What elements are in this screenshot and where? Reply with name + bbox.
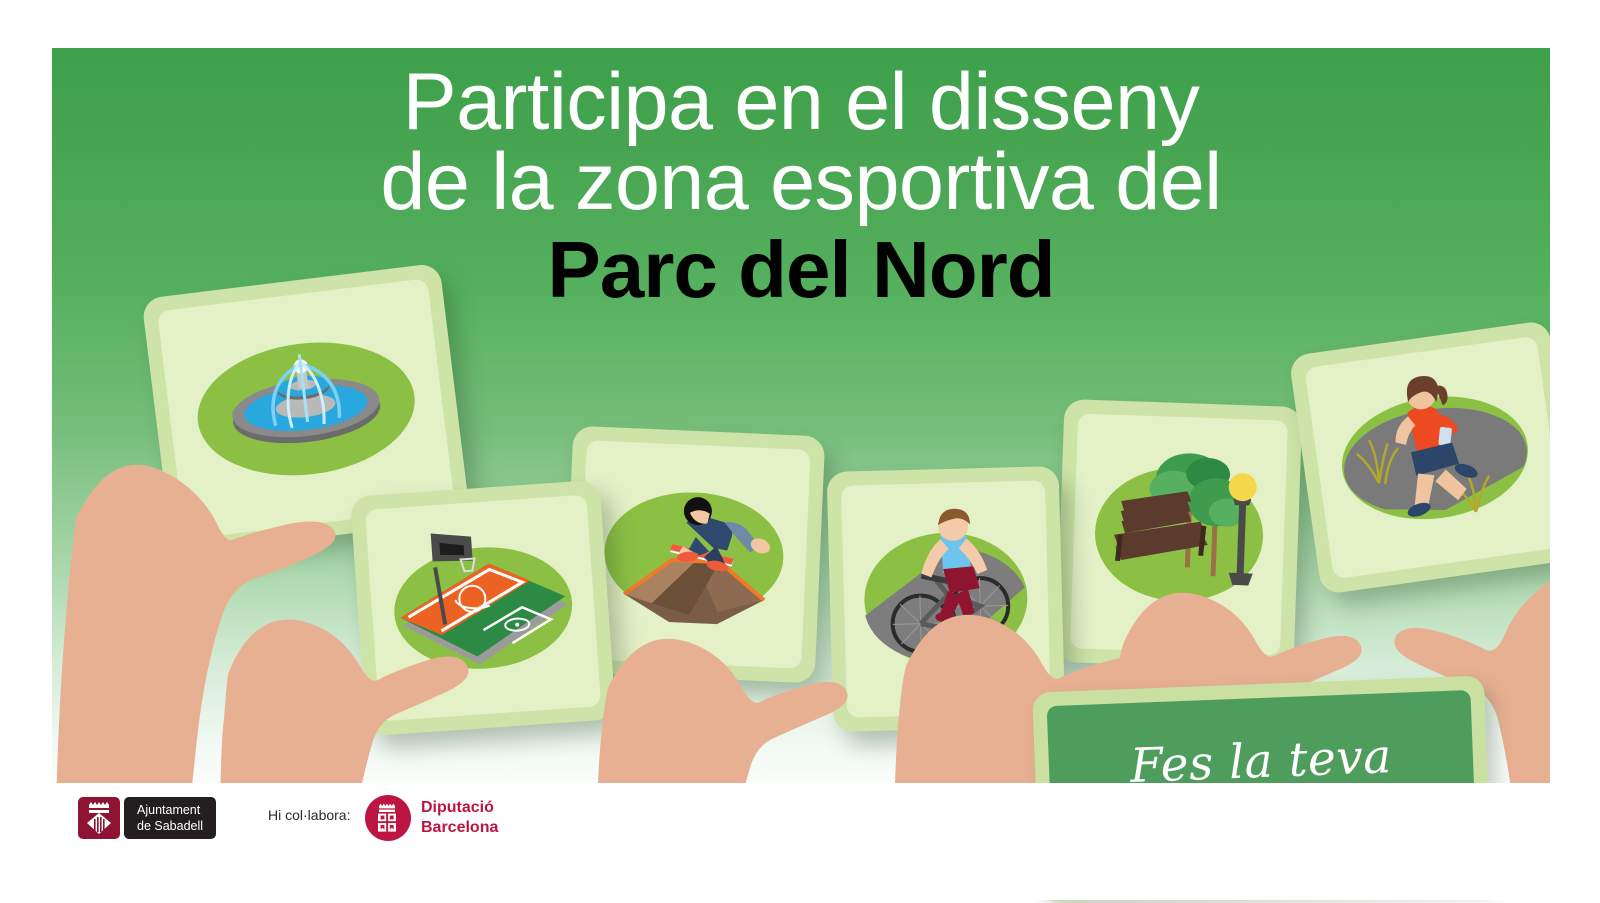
- diba-line-2: Barcelona: [421, 818, 498, 838]
- diputacio-name-box: Diputació Barcelona: [421, 798, 498, 838]
- card-runner-inner: [1304, 336, 1550, 579]
- skateboarder-icon: [577, 440, 810, 669]
- card-skate-inner: [577, 440, 810, 669]
- logo-diputacio-barcelona[interactable]: Diputació Barcelona: [365, 795, 498, 841]
- logo-ajuntament-de-sabadell[interactable]: Ajuntament de Sabadell: [78, 797, 216, 839]
- diputacio-crest-icon: [365, 795, 411, 841]
- diba-line-1: Diputació: [421, 798, 498, 818]
- card-bike-path[interactable]: [827, 466, 1066, 732]
- sabadell-line-1: Ajuntament: [137, 802, 203, 818]
- card-sports-courts[interactable]: [350, 480, 616, 737]
- card-park-bench[interactable]: [1055, 399, 1302, 670]
- poster-canvas: Participa en el disseny de la zona espor…: [0, 0, 1600, 900]
- bench-tree-lamp-icon: [1070, 413, 1288, 655]
- cyclist-icon: [841, 480, 1051, 717]
- card-park-inner: [1070, 413, 1288, 655]
- sabadell-line-2: de Sabadell: [137, 818, 203, 834]
- green-background-panel: [52, 48, 1550, 783]
- basketball-football-court-icon: [365, 495, 601, 722]
- footer-logos-bar: Ajuntament de Sabadell Hi col·labora:: [0, 783, 1600, 900]
- runner-icon: [1304, 336, 1550, 579]
- sabadell-shield-icon: [78, 797, 120, 839]
- collaborator-label: Hi col·labora:: [268, 807, 350, 823]
- sabadell-name-box: Ajuntament de Sabadell: [124, 797, 216, 839]
- card-bike-inner: [841, 480, 1051, 717]
- card-courts-inner: [365, 495, 601, 722]
- card-running-track[interactable]: [1289, 320, 1550, 595]
